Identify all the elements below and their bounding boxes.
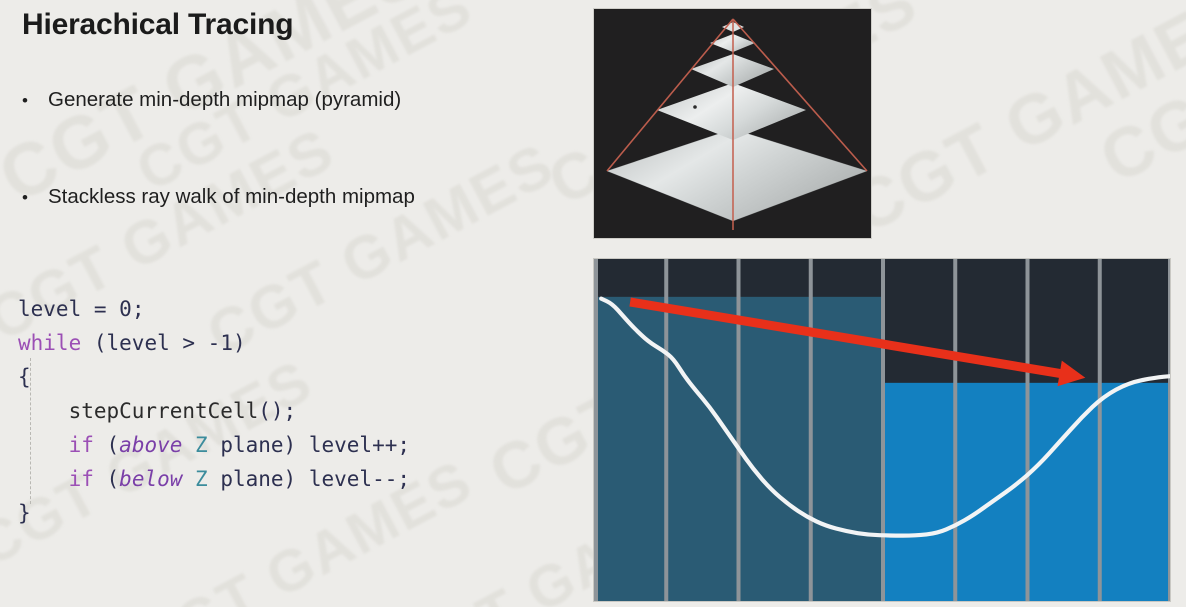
watermark: CGT GAMES xyxy=(837,0,1186,249)
hiz-cell-separator xyxy=(809,259,813,602)
hiz-depth-diagram xyxy=(593,258,1171,602)
code-indent-guide xyxy=(30,358,31,504)
code-line: level = 0; xyxy=(18,292,410,326)
bullet-text: Generate min-depth mipmap (pyramid) xyxy=(48,88,401,112)
code-token-fn: stepCurrentCell xyxy=(69,399,259,423)
code-token-punct: = xyxy=(81,297,119,321)
code-token-kw: if xyxy=(69,467,94,491)
code-token-punct xyxy=(182,433,195,457)
code-token-type: Z xyxy=(195,433,208,457)
code-token-punct: } xyxy=(18,501,31,525)
hiz-cell-separator xyxy=(737,259,741,602)
hiz-diagram-svg xyxy=(594,259,1171,602)
hiz-cell-separator xyxy=(1026,259,1030,602)
hiz-cell-separator xyxy=(594,259,598,602)
code-token-punct xyxy=(18,467,69,491)
code-token-punct: (); xyxy=(258,399,296,423)
code-token-punct: ( xyxy=(94,433,119,457)
code-line: if (above Z plane) level++; xyxy=(18,428,410,462)
code-token-num: 0 xyxy=(119,297,132,321)
pyramid-svg xyxy=(594,9,872,239)
bullet-marker: • xyxy=(22,92,48,109)
code-token-kw: while xyxy=(18,331,81,355)
code-token-punct: ++; xyxy=(372,433,410,457)
bullet-marker: • xyxy=(22,189,48,206)
code-token-var: level xyxy=(107,331,170,355)
code-token-punct: plane) xyxy=(208,467,309,491)
code-token-var: level xyxy=(18,297,81,321)
code-line: } xyxy=(18,496,410,530)
code-token-punct: ( xyxy=(81,331,106,355)
code-token-punct: { xyxy=(18,365,31,389)
pyramid-sample-point xyxy=(693,105,697,109)
code-token-em: above xyxy=(119,433,182,457)
hiz-cell-separator xyxy=(953,259,957,602)
hiz-cell-separator xyxy=(1168,259,1171,602)
code-token-punct: --; xyxy=(372,467,410,491)
code-token-num: -1 xyxy=(208,331,233,355)
code-token-punct: ) xyxy=(233,331,246,355)
code-line: stepCurrentCell(); xyxy=(18,394,410,428)
code-token-punct xyxy=(18,433,69,457)
hiz-cell-separator xyxy=(881,259,885,602)
code-line: while (level > -1) xyxy=(18,326,410,360)
code-token-punct xyxy=(18,399,69,423)
code-token-kw: if xyxy=(69,433,94,457)
mipmap-pyramid-image xyxy=(593,8,872,239)
code-line: if (below Z plane) level--; xyxy=(18,462,410,496)
code-block: level = 0;while (level > -1){ stepCurren… xyxy=(18,292,410,530)
code-token-punct: ; xyxy=(132,297,145,321)
hiz-cell-separator xyxy=(1098,259,1102,602)
code-token-punct: plane) xyxy=(208,433,309,457)
bullet-item: • Stackless ray walk of min-depth mipmap xyxy=(22,185,415,209)
slide-title: Hierachical Tracing xyxy=(22,8,293,42)
code-token-var: level xyxy=(309,433,372,457)
bullet-text: Stackless ray walk of min-depth mipmap xyxy=(48,185,415,209)
code-token-punct: > xyxy=(170,331,208,355)
code-line: { xyxy=(18,360,410,394)
code-token-var: level xyxy=(309,467,372,491)
code-token-em: below xyxy=(119,467,182,491)
bullet-item: • Generate min-depth mipmap (pyramid) xyxy=(22,88,401,112)
watermark: CGT GAMES xyxy=(1087,0,1186,199)
code-token-punct xyxy=(182,467,195,491)
slide-canvas: CGT GAMES CGT GAMES CGT GAMES CGT GAMES … xyxy=(0,0,1186,607)
code-token-type: Z xyxy=(195,467,208,491)
code-token-punct: ( xyxy=(94,467,119,491)
